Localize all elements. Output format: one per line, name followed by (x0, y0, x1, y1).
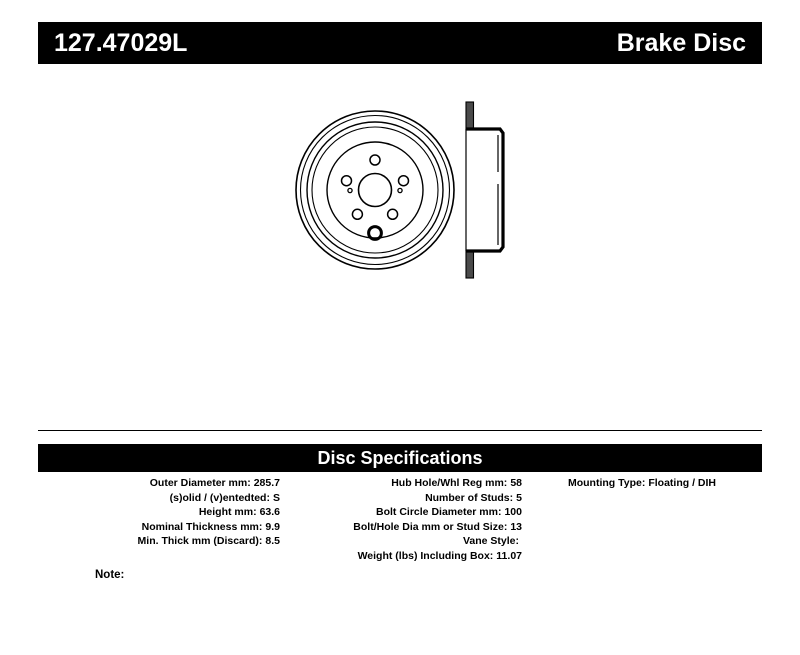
spec-column-middle: Hub Hole/Whl Reg mm: 58 Number of Studs:… (280, 476, 522, 564)
stud-hole (352, 209, 362, 219)
spec-row: Vane Style: (280, 534, 522, 549)
brake-disc-side-profile-view (466, 102, 503, 278)
hub-bore (359, 174, 392, 207)
spec-label: (s)olid / (v)entedted: (170, 491, 270, 506)
spec-row: Bolt/Hole Dia mm or Stud Size: 13 (280, 520, 522, 535)
spec-label: Vane Style: (463, 534, 519, 549)
spec-row: Height mm: 63.6 (38, 505, 280, 520)
spec-label: Bolt Circle Diameter mm: (376, 505, 501, 520)
spec-row: Min. Thick mm (Discard): 8.5 (38, 534, 280, 549)
spec-label: Number of Studs: (425, 491, 513, 506)
spec-row: Nominal Thickness mm: 9.9 (38, 520, 280, 535)
spec-row: Mounting Type: Floating / DIH (522, 476, 762, 491)
part-number: 127.47029L (54, 31, 187, 56)
spec-column-left: Outer Diameter mm: 285.7 (s)olid / (v)en… (38, 476, 280, 549)
spec-row: Outer Diameter mm: 285.7 (38, 476, 280, 491)
stud-hole (342, 176, 352, 186)
spec-value: 63.6 (260, 505, 280, 520)
locating-pin-hole (398, 188, 402, 192)
spec-column-right: Mounting Type: Floating / DIH (522, 476, 762, 491)
spec-value: 13 (510, 520, 522, 535)
spec-value: 9.9 (265, 520, 280, 535)
spec-value: 11.07 (496, 549, 522, 564)
stud-hole (370, 155, 380, 165)
spec-value: 58 (510, 476, 522, 491)
spec-label: Mounting Type: (568, 476, 645, 491)
spec-value: Floating / DIH (648, 476, 716, 491)
section-separator (38, 430, 762, 431)
product-title: Brake Disc (617, 31, 746, 56)
spec-row: Weight (lbs) Including Box: 11.07 (280, 549, 522, 564)
friction-ring-edge-bottom (466, 251, 474, 278)
note-line: Note: (95, 570, 128, 582)
spec-row: (s)olid / (v)entedted: S (38, 491, 280, 506)
specifications-table: Outer Diameter mm: 285.7 (s)olid / (v)en… (38, 476, 762, 564)
spec-value: 8.5 (265, 534, 280, 549)
technical-drawing (0, 80, 800, 400)
spec-label: Hub Hole/Whl Reg mm: (391, 476, 507, 491)
spec-label: Min. Thick mm (Discard): (138, 534, 263, 549)
spec-label: Height mm: (199, 505, 257, 520)
spec-value: S (273, 491, 280, 506)
stud-hole (388, 209, 398, 219)
header-bar: 127.47029L Brake Disc (38, 22, 762, 64)
note-label: Note: (95, 570, 124, 582)
spec-label: Nominal Thickness mm: (142, 520, 263, 535)
spec-row: Hub Hole/Whl Reg mm: 58 (280, 476, 522, 491)
spec-row: Number of Studs: 5 (280, 491, 522, 506)
spec-row: Bolt Circle Diameter mm: 100 (280, 505, 522, 520)
disc-specifications-banner: Disc Specifications (38, 444, 762, 472)
spec-label: Outer Diameter mm: (150, 476, 251, 491)
spec-label: Weight (lbs) Including Box: (358, 549, 494, 564)
friction-ring-edge-top (466, 102, 474, 129)
brake-disc-face-view (296, 111, 454, 269)
spec-value: 100 (504, 505, 522, 520)
spec-banner-title: Disc Specifications (317, 449, 482, 467)
spec-value: 5 (516, 491, 522, 506)
spec-value: 285.7 (254, 476, 280, 491)
spec-label: Bolt/Hole Dia mm or Stud Size: (353, 520, 507, 535)
stud-hole (399, 176, 409, 186)
locating-pin-hole (348, 188, 352, 192)
